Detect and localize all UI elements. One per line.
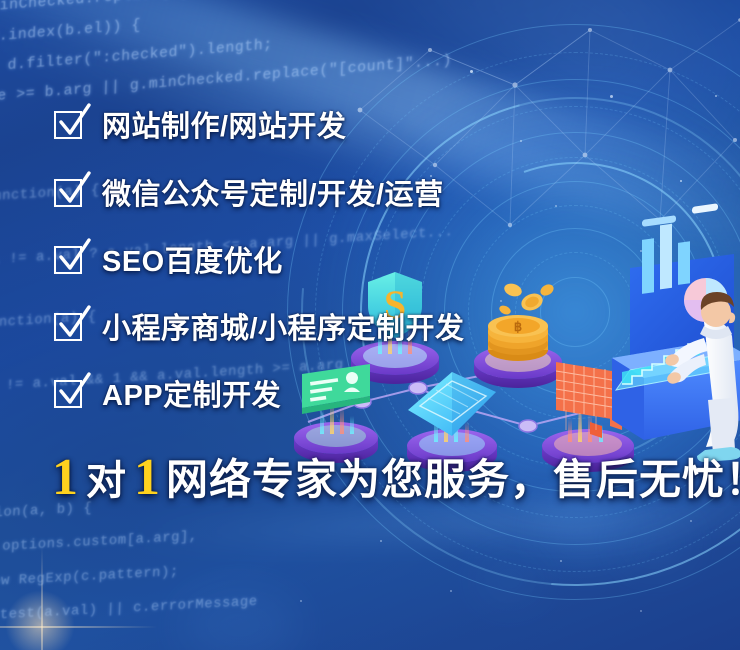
- feature-label: SEO百度优化: [102, 238, 283, 280]
- checkbox-checked-icon[interactable]: [54, 175, 88, 209]
- lens-flare-core: [5, 590, 75, 650]
- headline-word-mid: 对: [86, 461, 126, 501]
- feature-item-wechat[interactable]: 微信公众号定制/开发/运营: [54, 171, 444, 213]
- headline-number-first: 1: [52, 452, 78, 504]
- green-card-node: [294, 364, 378, 463]
- checkbox-checked-icon[interactable]: [54, 242, 88, 276]
- feature-item-app[interactable]: APP定制开发: [54, 372, 281, 414]
- coins-node: ฿: [474, 282, 562, 388]
- feature-item-website[interactable]: 网站制作/网站开发: [54, 103, 347, 145]
- checkbox-checked-icon[interactable]: [54, 309, 88, 343]
- headline-tail: 网络专家为您服务，售后无忧！: [166, 459, 740, 501]
- checkbox-checked-icon[interactable]: [54, 107, 88, 141]
- svg-text:฿: ฿: [514, 319, 522, 334]
- gold-coin-stack-icon: ฿: [488, 282, 556, 361]
- checkbox-checked-icon[interactable]: [54, 376, 88, 410]
- feature-label: 小程序商城/小程序定制开发: [102, 305, 465, 347]
- background-code-top: g.minChecked.replace("[count]" , input[t…: [0, 0, 559, 114]
- headline: 1 对 1 网络专家为您服务，售后无忧！: [52, 452, 740, 504]
- feature-label: 微信公众号定制/开发/运营: [102, 171, 444, 213]
- headline-number-second: 1: [134, 452, 160, 504]
- feature-label: APP定制开发: [102, 372, 281, 414]
- lens-flare: [40, 625, 44, 629]
- background-code-bottom: nction(a, b) { = b.options.custom[a.arg]…: [0, 482, 262, 634]
- feature-label: 网站制作/网站开发: [102, 103, 347, 145]
- feature-item-miniprogram[interactable]: 小程序商城/小程序定制开发: [54, 305, 465, 347]
- feature-item-seo[interactable]: SEO百度优化: [54, 238, 283, 280]
- promo-banner: g.minChecked.replace("[count]" , input[t…: [0, 0, 740, 650]
